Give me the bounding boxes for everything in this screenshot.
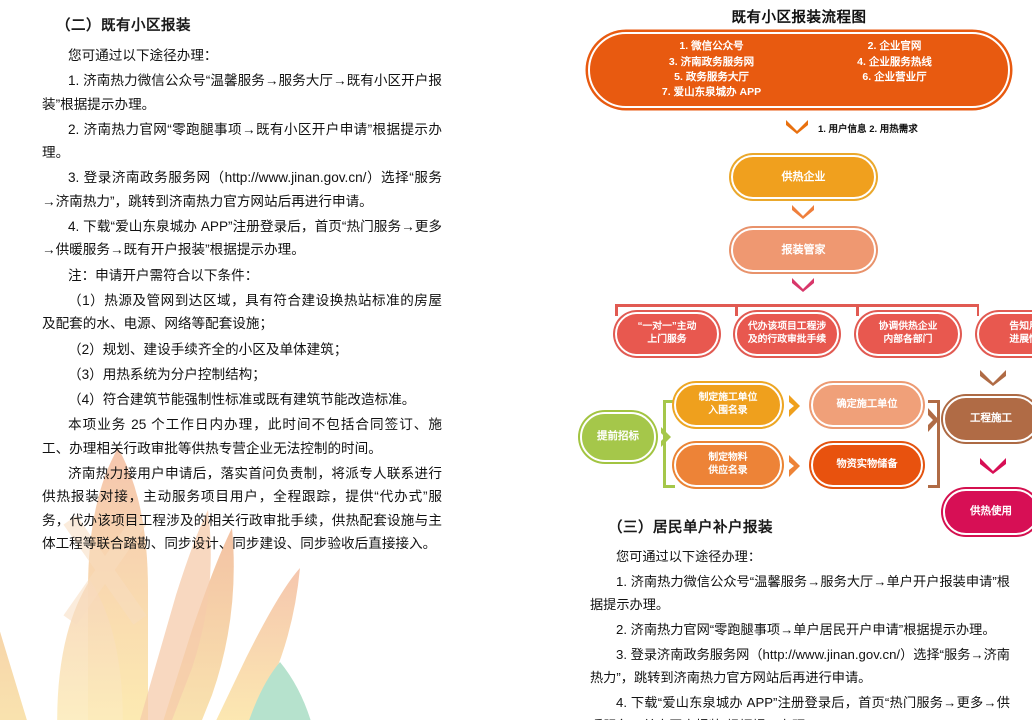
flow-node-notify-user: 告知用户 进展情况 xyxy=(977,312,1032,356)
right-section-title: （三）居民单户补户报装 xyxy=(608,516,1010,537)
flow-node-application-channels: 1. 微信公众号 2. 企业官网 3. 济南政务服务网 4. 企业服务热线 5.… xyxy=(588,32,1010,108)
flow-node-advance-tender: 提前招标 xyxy=(580,412,656,462)
flow-node-material-supplier-list: 制定物料 供应名录 xyxy=(674,443,782,487)
node-label: 代办该项目工程涉 及的行政审批手续 xyxy=(742,321,832,346)
left-paragraph: （4）符合建筑节能强制性标准或既有建筑节能改造标准。 xyxy=(42,388,442,411)
left-section-title: （二）既有小区报装 xyxy=(56,14,442,35)
left-paragraph: 本项业务 25 个工作日内办理，此时间不包括合同签订、施工、办理相关行政审批等供… xyxy=(42,413,442,460)
node-label: 制定物料 供应名录 xyxy=(702,452,753,477)
arrow-note-user-info: 1. 用户信息 2. 用热需求 xyxy=(818,121,918,135)
flow-node-construction: 工程施工 xyxy=(943,396,1032,442)
left-text-column: （二）既有小区报装 您可通过以下途径办理： 1. 济南热力微信公众号“温馨服务→… xyxy=(42,14,442,557)
right-paragraph: 3. 登录济南政务服务网（http://www.jinan.gov.cn/）选择… xyxy=(590,643,1010,689)
flow-node-internal-coordination: 协调供热企业 内部各部门 xyxy=(856,312,960,356)
node-label: 协调供热企业 内部各部门 xyxy=(873,321,944,346)
node-label: 供热企业 xyxy=(776,170,832,184)
chevron-right-icon xyxy=(787,453,803,479)
channels-list: 1. 微信公众号 2. 企业官网 3. 济南政务服务网 4. 企业服务热线 5.… xyxy=(590,36,1008,104)
flow-node-heating-company: 供热企业 xyxy=(731,155,876,199)
right-paragraph: 2. 济南热力官网“零跑腿事项→单户居民开户申请”根据提示办理。 xyxy=(590,618,1010,641)
flowchart: 既有小区报装流程图 1. 微信公众号 2. 企业官网 3. 济南政务服务网 4.… xyxy=(566,0,1032,520)
node-label: 提前招标 xyxy=(591,430,645,443)
flow-node-installation-butler: 报装管家 xyxy=(731,228,876,272)
node-label: 确定施工单位 xyxy=(830,398,903,411)
flowchart-title: 既有小区报装流程图 xyxy=(566,6,1032,27)
channel-item: 4. 企业服务热线 xyxy=(807,56,982,69)
channel-item: 2. 企业官网 xyxy=(807,40,982,53)
chevron-down-icon xyxy=(790,276,816,292)
left-paragraph: 您可通过以下途径办理： xyxy=(42,44,442,67)
right-paragraph: 1. 济南热力微信公众号“温馨服务→服务大厅→单户开户报装申请”根据提示办理。 xyxy=(590,570,1010,616)
node-label: 制定施工单位 入围名录 xyxy=(693,392,764,417)
right-paragraph: 4. 下载“爱山东泉城办 APP”注册登录后，首页“热门服务→更多→供暖服务→单… xyxy=(590,691,1010,720)
channel-item: 7. 爱山东泉城办 APP xyxy=(624,86,799,99)
node-label: 物资实物储备 xyxy=(830,458,903,471)
node-label: “一对一”主动 上门服务 xyxy=(632,321,703,346)
left-paragraph: （3）用热系统为分户控制结构； xyxy=(42,363,442,386)
channel-item: 3. 济南政务服务网 xyxy=(624,56,799,69)
left-paragraph: 2. 济南热力官网“零跑腿事项→既有小区开户申请”根据提示办理。 xyxy=(42,118,442,165)
flow-node-administrative-approval: 代办该项目工程涉 及的行政审批手续 xyxy=(735,312,839,356)
right-paragraph: 您可通过以下途径办理： xyxy=(590,545,1010,568)
document-page: （二）既有小区报装 您可通过以下途径办理： 1. 济南热力微信公众号“温馨服务→… xyxy=(0,0,1032,720)
chevron-right-icon xyxy=(787,393,803,419)
left-paragraph: 注：申请开户需符合以下条件： xyxy=(42,264,442,287)
flow-node-constructor-shortlist: 制定施工单位 入围名录 xyxy=(674,383,782,427)
flow-node-confirm-constructor: 确定施工单位 xyxy=(811,383,923,427)
node-label: 工程施工 xyxy=(964,412,1018,425)
channel-item: 1. 微信公众号 xyxy=(624,40,799,53)
channel-item: 5. 政务服务大厅 xyxy=(624,71,799,84)
left-paragraph: 4. 下载“爱山东泉城办 APP”注册登录后，首页“热门服务→更多→供暖服务→既… xyxy=(42,215,442,262)
flow-node-onsite-service: “一对一”主动 上门服务 xyxy=(615,312,719,356)
chevron-down-icon xyxy=(784,118,810,134)
left-paragraph: 1. 济南热力微信公众号“温馨服务→服务大厅→既有小区开户报装”根据提示办理。 xyxy=(42,69,442,116)
left-paragraph: 济南热力接用户申请后，落实首问负责制，将派专人联系进行供热报装对接，主动服务项目… xyxy=(42,462,442,555)
node-label: 报装管家 xyxy=(776,243,832,257)
node-label: 告知用户 进展情况 xyxy=(1003,321,1032,346)
left-paragraph: 3. 登录济南政务服务网（http://www.jinan.gov.cn/）选择… xyxy=(42,166,442,213)
right-text-column: （三）居民单户补户报装 您可通过以下途径办理： 1. 济南热力微信公众号“温馨服… xyxy=(590,516,1010,720)
chevron-right-icon xyxy=(926,406,942,434)
chevron-down-icon xyxy=(790,203,816,219)
flow-node-material-stock: 物资实物储备 xyxy=(811,443,923,487)
chevron-down-icon xyxy=(978,456,1008,474)
channel-item: 6. 企业营业厅 xyxy=(807,71,982,84)
left-paragraph: （2）规划、建设手续齐全的小区及单体建筑； xyxy=(42,338,442,361)
left-paragraph: （1）热源及管网到达区域，具有符合建设换热站标准的房屋及配套的水、电源、网络等配… xyxy=(42,289,442,336)
chevron-down-icon xyxy=(978,368,1008,386)
